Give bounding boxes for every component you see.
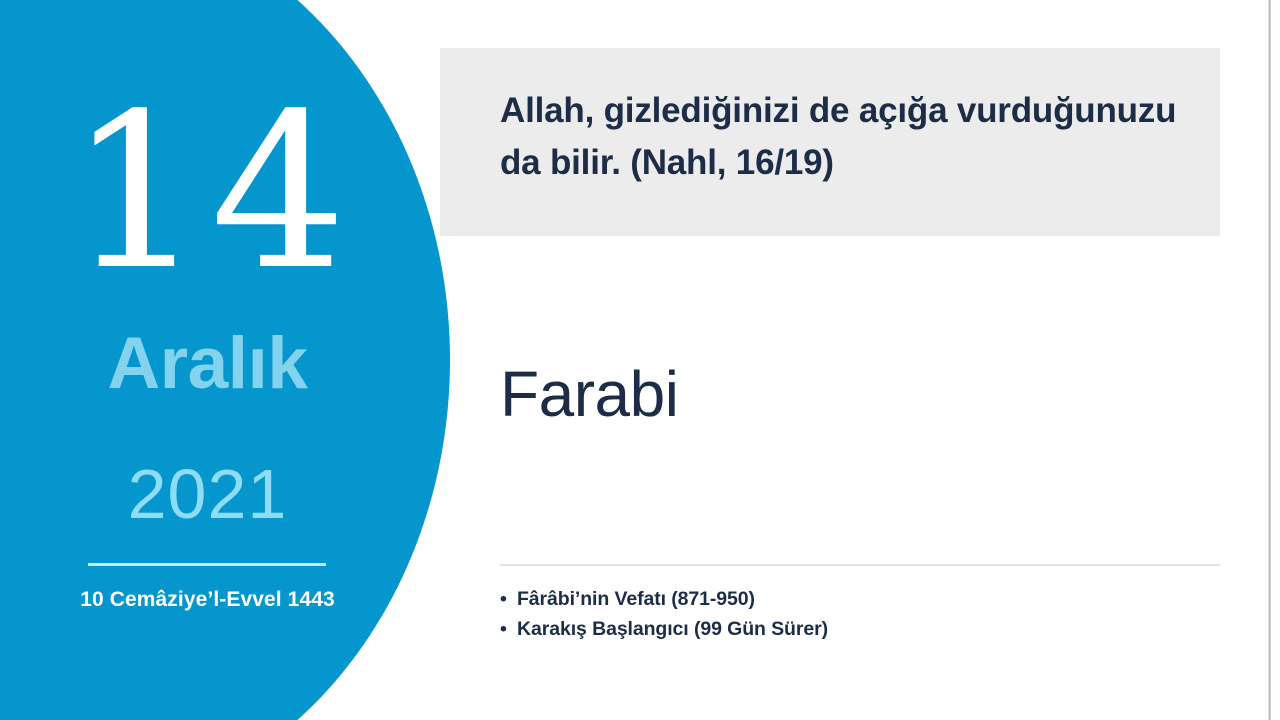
list-item: •Karakış Başlangıcı (99 Gün Sürer) (500, 614, 1220, 644)
bullet-icon: • (500, 614, 517, 644)
events-list: •Fârâbi’nin Vefatı (871-950) •Karakış Ba… (500, 584, 1220, 644)
list-item-label: Fârâbi’nin Vefatı (871-950) (517, 588, 755, 610)
quote-text: Allah, gizlediğinizi de açığa vurduğunuz… (500, 85, 1190, 189)
calendar-page: 14 Aralık 2021 10 Cemâziye’l-Evvel 1443 … (0, 0, 1280, 720)
list-item: •Fârâbi’nin Vefatı (871-950) (500, 584, 1220, 614)
bullet-icon: • (500, 584, 517, 614)
month-name: Aralık (0, 325, 415, 403)
quote-box: Allah, gizlediğinizi de açığa vurduğunuz… (440, 48, 1220, 236)
page-border-right (1268, 0, 1271, 720)
list-item-label: Karakış Başlangıcı (99 Gün Sürer) (517, 618, 828, 640)
events-divider (500, 564, 1220, 566)
date-panel: 14 Aralık 2021 10 Cemâziye’l-Evvel 1443 (0, 0, 415, 720)
page-title: Farabi (500, 358, 1200, 430)
hijri-date: 10 Cemâziye’l-Evvel 1443 (25, 586, 390, 614)
hijri-divider (88, 563, 326, 566)
day-number: 14 (0, 86, 415, 300)
year-number: 2021 (0, 456, 415, 532)
